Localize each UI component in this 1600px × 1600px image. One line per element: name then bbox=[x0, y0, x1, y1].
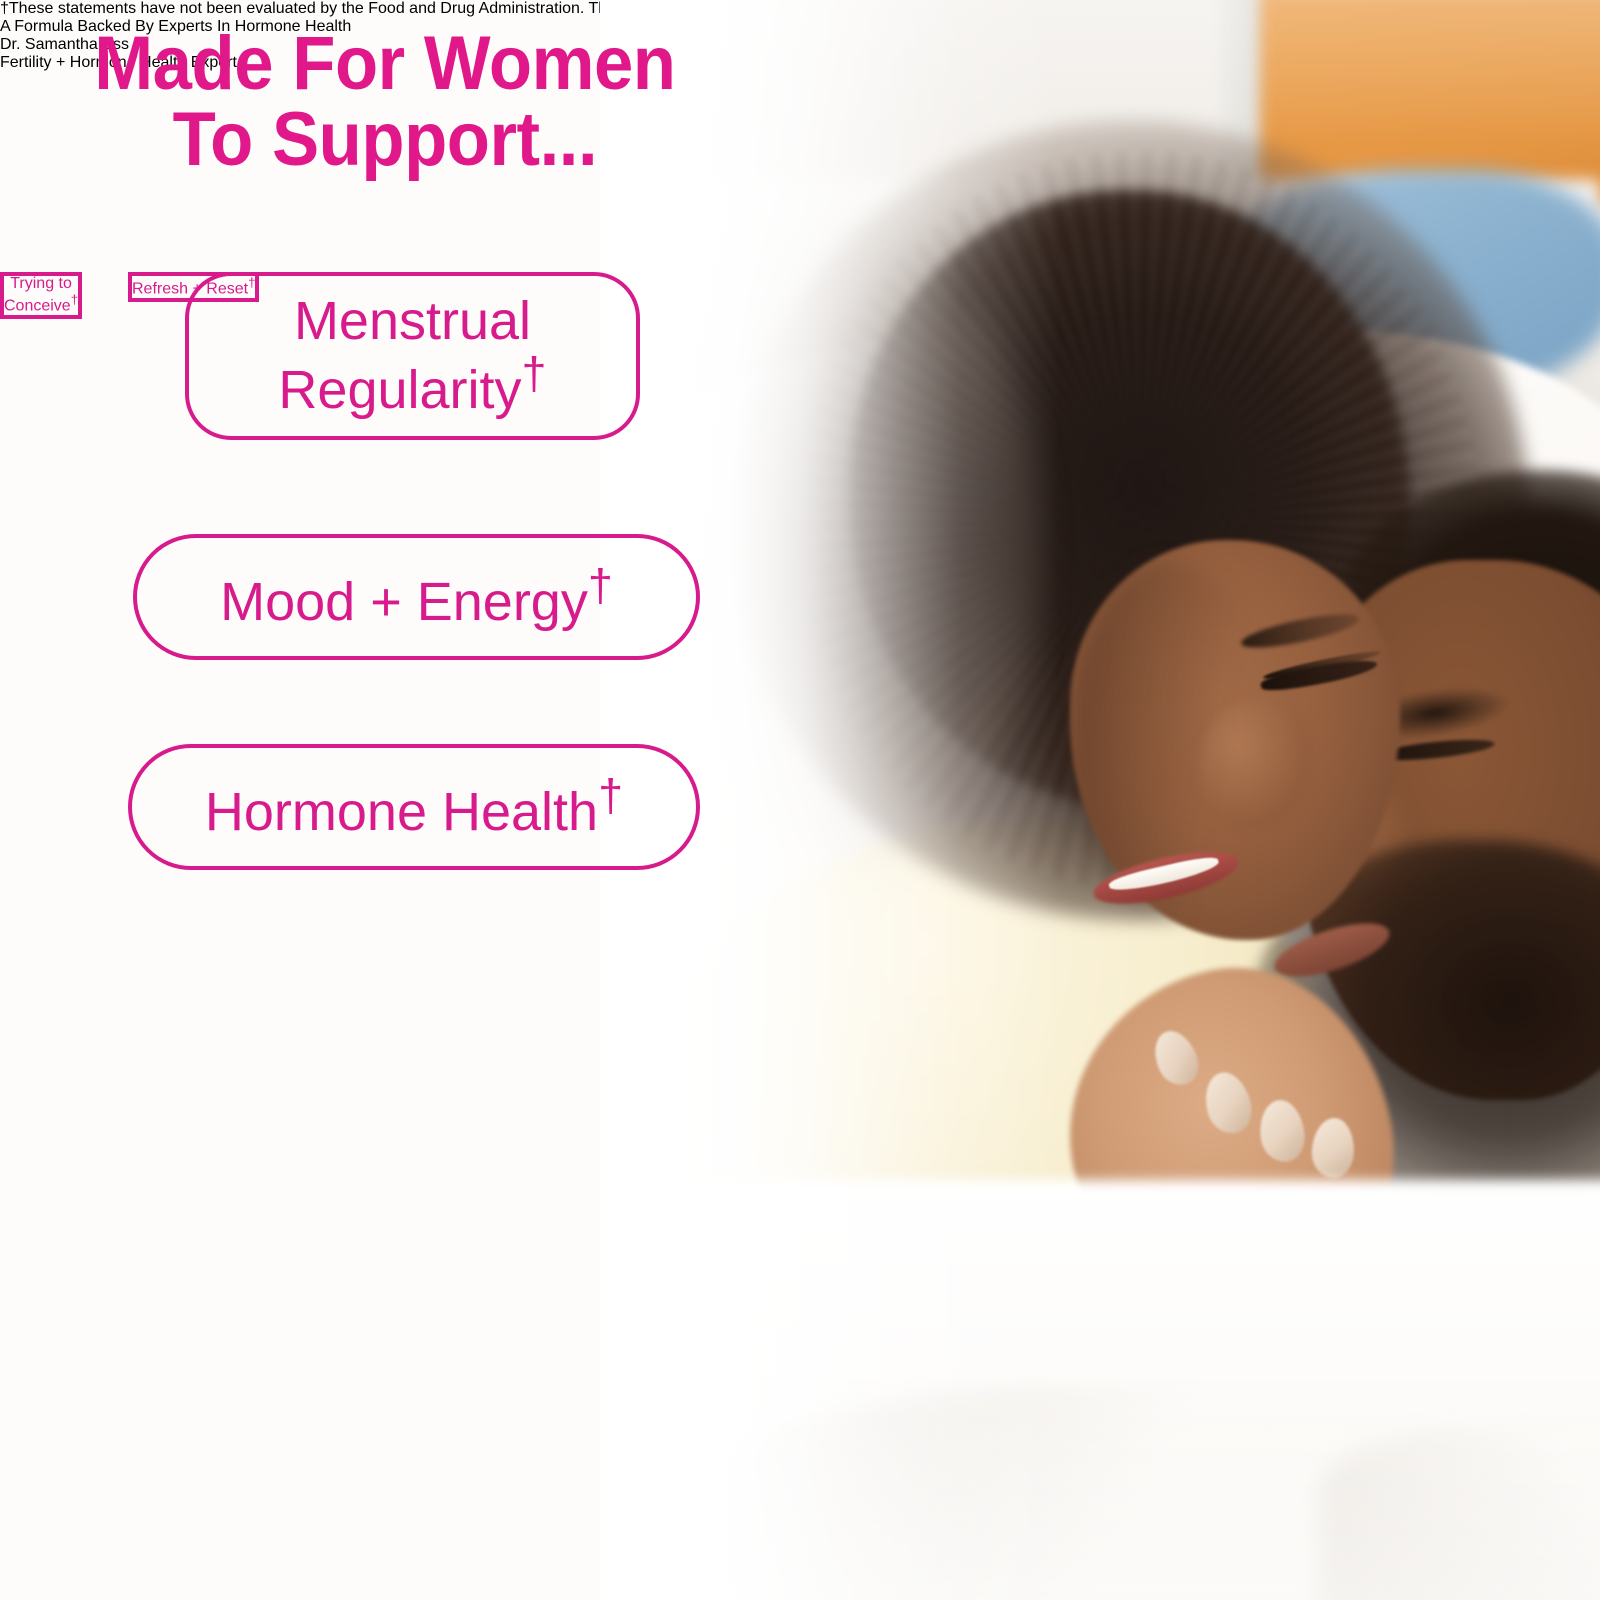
footnote-dagger-icon: † bbox=[588, 560, 613, 611]
marketing-infographic: Made For Women To Support... Menstrual R… bbox=[0, 0, 1600, 1600]
benefit-pill-trying-to-conceive[interactable]: Trying to Conceive† bbox=[0, 272, 82, 319]
benefit-pill-label: Hormone Health† bbox=[205, 772, 623, 841]
footnote-dagger-icon: † bbox=[71, 292, 78, 307]
hero-photo-couple bbox=[600, 0, 1600, 1600]
footnote-dagger-icon: † bbox=[598, 770, 623, 821]
benefit-pill-label: Mood + Energy† bbox=[220, 562, 613, 631]
benefit-pill-mood-energy[interactable]: Mood + Energy† bbox=[133, 534, 700, 660]
benefit-pill-hormone-health[interactable]: Hormone Health† bbox=[128, 744, 700, 870]
photo-left-fade bbox=[600, 0, 1600, 1600]
benefit-pill-refresh-reset[interactable]: Refresh + Reset† bbox=[128, 272, 259, 302]
footnote-dagger-icon: † bbox=[522, 348, 547, 399]
benefit-pill-label: Refresh + Reset† bbox=[132, 276, 255, 298]
page-headline: Made For Women To Support... bbox=[78, 26, 692, 178]
footnote-dagger-icon: † bbox=[248, 275, 255, 290]
benefit-pill-label: Menstrual Regularity† bbox=[278, 293, 546, 419]
benefit-pill-label: Trying to Conceive† bbox=[4, 276, 78, 315]
